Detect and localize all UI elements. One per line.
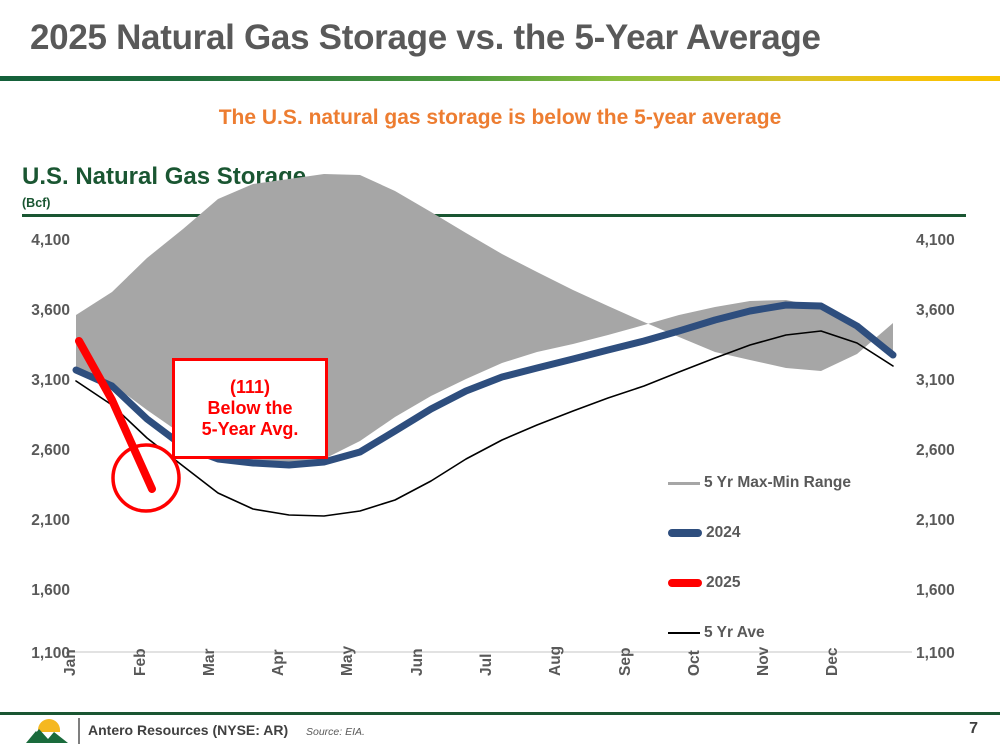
x-tick-aug: Aug [547, 646, 565, 676]
legend-item-range[interactable]: 5 Yr Max-Min Range [668, 458, 928, 508]
footer-rule [0, 712, 1000, 715]
callout-line-3: 5-Year Avg. [202, 419, 299, 440]
chart-title-rule [22, 214, 966, 217]
x-tick-sep: Sep [617, 648, 635, 676]
legend-item-5yr-ave[interactable]: 5 Yr Ave [668, 608, 928, 658]
y-tick-left-3600: 3,600 [8, 302, 70, 320]
legend-label-2025: 2025 [706, 574, 740, 592]
y-tick-left-2600: 2,600 [8, 442, 70, 460]
x-tick-jun: Jun [409, 648, 427, 676]
y-tick-right-3100: 3,100 [916, 372, 955, 390]
y-tick-right-3600: 3,600 [916, 302, 955, 320]
x-tick-apr: Apr [270, 649, 288, 676]
y-tick-left-1100: 1,100 [8, 645, 70, 663]
x-tick-feb: Feb [132, 648, 150, 676]
y-tick-left-4100: 4,100 [8, 232, 70, 250]
y-tick-left-2100: 2,100 [8, 512, 70, 530]
x-tick-jan: Jan [62, 649, 80, 676]
legend-swatch-range-icon [668, 482, 700, 485]
callout-highlight-circle [113, 445, 179, 511]
x-tick-jul: Jul [478, 654, 496, 676]
footer-company-name: Antero Resources (NYSE: AR) [88, 722, 288, 738]
legend-swatch-2025-icon [668, 579, 702, 587]
legend-swatch-5yr-ave-icon [668, 632, 700, 634]
page-title: 2025 Natural Gas Storage vs. the 5-Year … [30, 18, 821, 58]
footer-divider [78, 718, 80, 744]
callout-line-1: (111) [230, 377, 270, 398]
y-tick-right-4100: 4,100 [916, 232, 955, 250]
y-tick-left-1600: 1,600 [8, 582, 70, 600]
page-subtitle: The U.S. natural gas storage is below th… [0, 106, 1000, 130]
legend-label-2024: 2024 [706, 524, 740, 542]
header-gradient-rule [0, 76, 1000, 81]
chart-unit-label: (Bcf) [22, 196, 50, 210]
x-tick-mar: Mar [201, 648, 219, 676]
footer-source-note: Source: EIA. [306, 726, 365, 738]
callout-line-2: Below the [207, 398, 292, 419]
x-tick-may: May [339, 646, 357, 676]
below-average-callout: (111) Below the 5-Year Avg. [172, 358, 328, 459]
antero-resources-logo-icon [26, 719, 70, 745]
footer-page-number: 7 [969, 720, 978, 738]
legend-swatch-2024-icon [668, 529, 702, 537]
legend-label-range: 5 Yr Max-Min Range [704, 474, 851, 492]
y-tick-left-3100: 3,100 [8, 372, 70, 390]
legend-item-2025[interactable]: 2025 [668, 558, 928, 608]
legend-item-2024[interactable]: 2024 [668, 508, 928, 558]
chart-legend: 5 Yr Max-Min Range 2024 2025 5 Yr Ave [668, 458, 928, 658]
series-2025-line [79, 341, 152, 489]
chart-title: U.S. Natural Gas Storage [22, 163, 306, 191]
legend-label-5yr-ave: 5 Yr Ave [704, 624, 765, 642]
